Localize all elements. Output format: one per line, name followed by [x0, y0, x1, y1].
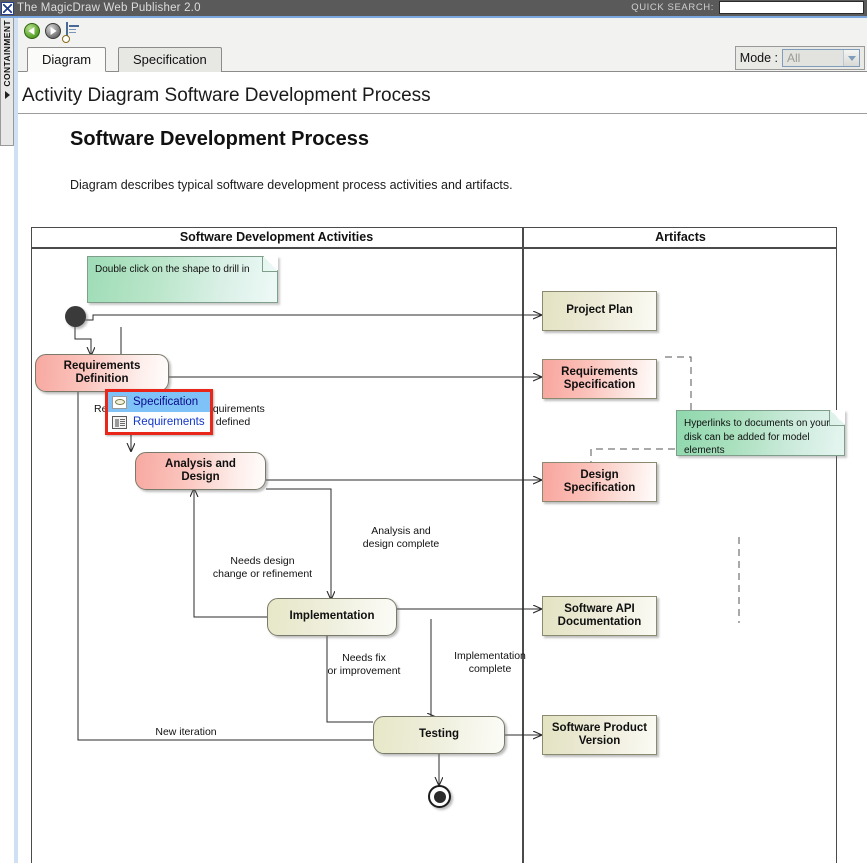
activity-analysis-and-design[interactable]: Analysis and Design: [135, 452, 266, 490]
note-fold-corner: [262, 256, 278, 272]
containment-label: CONTAINMENT: [2, 20, 12, 87]
tab-specification[interactable]: Specification: [118, 47, 222, 72]
mode-select-value: All: [787, 51, 800, 65]
tab-bar: Diagram Specification Mode : All: [18, 44, 867, 72]
left-accent-bar: [14, 18, 18, 863]
artifact-design-specification-label: Design Specification: [564, 469, 636, 495]
activity-final-node[interactable]: [428, 785, 451, 808]
note-drill-in-text: Double click on the shape to drill in: [95, 264, 250, 275]
menu-item-specification[interactable]: Specification: [108, 392, 210, 412]
artifact-requirements-specification-label: Requirements Specification: [561, 366, 638, 392]
specification-icon: [112, 396, 127, 409]
edge-label-needs-fix: Needs fix or improvement: [299, 652, 429, 678]
magicdraw-icon: [1, 2, 14, 15]
context-menu[interactable]: Specification Requirements: [105, 389, 213, 435]
artifact-project-plan-label: Project Plan: [566, 304, 632, 317]
menu-item-requirements-label: Requirements: [133, 416, 205, 428]
diagram-canvas: Software Development Activities Artifact…: [31, 227, 867, 863]
mode-select[interactable]: All: [782, 49, 860, 67]
edge-label-implementation-complete: Implementation complete: [435, 650, 545, 676]
artifact-software-api-documentation-label: Software API Documentation: [558, 603, 642, 629]
diagram-title: Software Development Process: [70, 128, 369, 151]
tab-diagram[interactable]: Diagram: [27, 47, 106, 72]
initial-node[interactable]: [65, 306, 86, 327]
activity-implementation[interactable]: Implementation: [267, 598, 397, 636]
artifact-software-api-documentation[interactable]: Software API Documentation: [542, 596, 657, 636]
window-titlebar: The MagicDraw Web Publisher 2.0 QUICK SE…: [0, 0, 867, 16]
mode-label: Mode :: [740, 51, 778, 65]
edge-label-new-iteration: New iteration: [126, 726, 246, 739]
activity-implementation-label: Implementation: [290, 610, 375, 623]
containment-panel-strip[interactable]: CONTAINMENT: [0, 18, 14, 146]
mode-control: Mode : All: [735, 46, 865, 70]
triangle-right-icon[interactable]: [5, 91, 10, 99]
search-input[interactable]: [719, 1, 864, 14]
activity-requirements-definition-label: Requirements Definition: [64, 360, 141, 386]
activity-requirements-definition[interactable]: Requirements Definition: [35, 354, 169, 392]
artifact-software-product-version-label: Software Product Version: [552, 722, 647, 748]
diagram-description: Diagram describes typical software devel…: [70, 178, 513, 192]
edge-label-analysis-design-complete: Analysis and design complete: [341, 525, 461, 551]
quick-search-label: QUICK SEARCH:: [631, 2, 714, 13]
edge-label-requirements-defined: equirements defined: [207, 403, 265, 429]
nav-toolbar: [18, 18, 867, 44]
note-drill-in[interactable]: Double click on the shape to drill in: [87, 256, 278, 303]
activity-analysis-and-design-label: Analysis and Design: [165, 458, 236, 484]
requirements-table-icon: [112, 416, 127, 429]
artifact-project-plan[interactable]: Project Plan: [542, 291, 657, 331]
note-fold-corner: [829, 410, 845, 426]
page-title: Activity Diagram Software Development Pr…: [18, 85, 867, 113]
forward-arrow-icon[interactable]: [45, 23, 62, 40]
menu-item-requirements[interactable]: Requirements: [108, 412, 210, 432]
artifact-design-specification[interactable]: Design Specification: [542, 462, 657, 502]
edge-label-needs-design-change: Needs design change or refinement: [175, 555, 350, 581]
quick-search-group: QUICK SEARCH:: [631, 1, 864, 14]
find-element-icon[interactable]: [66, 23, 83, 40]
activity-testing-label: Testing: [419, 728, 459, 741]
back-arrow-icon[interactable]: [24, 23, 41, 40]
window-title: The MagicDraw Web Publisher 2.0: [17, 2, 201, 14]
menu-item-specification-label: Specification: [133, 396, 198, 408]
note-hyperlinks-text: Hyperlinks to documents on your disk can…: [684, 418, 830, 456]
activity-testing[interactable]: Testing: [373, 716, 505, 754]
note-hyperlinks[interactable]: Hyperlinks to documents on your disk can…: [676, 410, 845, 456]
app-root: The MagicDraw Web Publisher 2.0 QUICK SE…: [0, 0, 867, 863]
artifact-software-product-version[interactable]: Software Product Version: [542, 715, 657, 755]
artifact-requirements-specification[interactable]: Requirements Specification: [542, 359, 657, 399]
chevron-down-icon[interactable]: [843, 50, 859, 66]
page-title-divider: [18, 113, 867, 114]
